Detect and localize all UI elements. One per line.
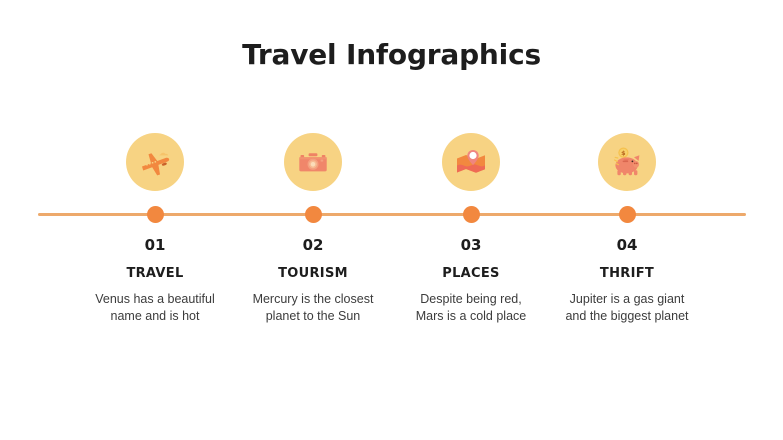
page-title: Travel Infographics xyxy=(0,38,783,71)
step-number: 01 xyxy=(80,236,230,254)
step-body: Jupiter is a gas giant and the biggest p… xyxy=(552,291,702,324)
slide-canvas: Travel Infographics 01 TRAVEL Venus has … xyxy=(0,0,783,440)
timeline-step-2: 02 TOURISM Mercury is the closest planet… xyxy=(238,236,388,324)
timeline-step-1: 01 TRAVEL Venus has a beautiful name and… xyxy=(80,236,230,324)
airplane-icon xyxy=(138,145,172,179)
step-title: TOURISM xyxy=(238,266,388,282)
timeline-dot-1[interactable] xyxy=(147,206,164,223)
step-body: Despite being red, Mars is a cold place xyxy=(396,291,546,324)
timeline-step-3: 03 PLACES Despite being red, Mars is a c… xyxy=(396,236,546,324)
step-body: Venus has a beautiful name and is hot xyxy=(80,291,230,324)
camera-icon xyxy=(296,145,330,179)
timeline-dot-4[interactable] xyxy=(619,206,636,223)
svg-text:$: $ xyxy=(621,149,626,157)
piggy-bank-icon: $ xyxy=(610,145,644,179)
step-number: 04 xyxy=(552,236,702,254)
icon-badge-3[interactable] xyxy=(442,133,500,191)
map-pin-icon xyxy=(454,145,488,179)
timeline-step-4: 04 THRIFT Jupiter is a gas giant and the… xyxy=(552,236,702,324)
step-title: THRIFT xyxy=(552,266,702,282)
step-title: TRAVEL xyxy=(80,266,230,282)
icon-badge-1[interactable] xyxy=(126,133,184,191)
icon-badge-2[interactable] xyxy=(284,133,342,191)
timeline-rail xyxy=(38,213,746,216)
icon-badge-4[interactable]: $ xyxy=(598,133,656,191)
step-number: 02 xyxy=(238,236,388,254)
timeline-dot-3[interactable] xyxy=(463,206,480,223)
step-body: Mercury is the closest planet to the Sun xyxy=(238,291,388,324)
timeline-dot-2[interactable] xyxy=(305,206,322,223)
step-number: 03 xyxy=(396,236,546,254)
step-title: PLACES xyxy=(396,266,546,282)
